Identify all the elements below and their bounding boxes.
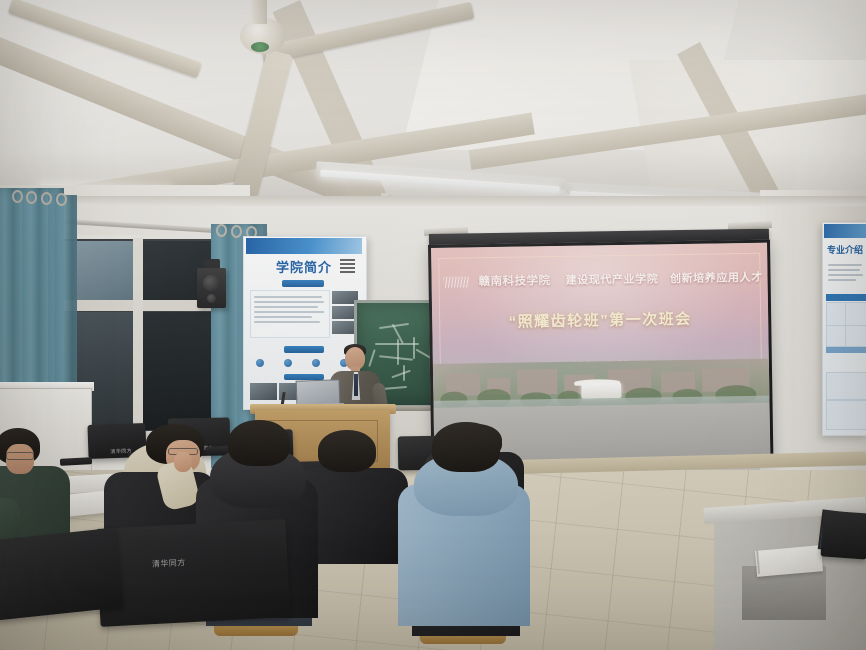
presentation-slide: 赣南科技学院 建设现代产业学院 创新培养应用人才 “照耀齿轮班”第一次班会 20… (431, 243, 769, 408)
computer-monitor-foreground (0, 528, 124, 621)
classroom-photo: 学院简介 专业介绍 (0, 0, 866, 650)
poster-section-intro (248, 280, 360, 342)
poster-header-band (824, 224, 866, 238)
slide-slogan: 建设现代产业学院 创新培养应用人才 (565, 269, 762, 288)
university-logo-icon (443, 276, 469, 287)
student-hair (318, 430, 376, 472)
poster-title-right: 专业介绍 (824, 243, 866, 259)
window-pane (142, 312, 212, 430)
student-hair (432, 422, 500, 472)
student-hair (228, 420, 290, 466)
fan-downrod (251, 0, 267, 24)
computer-monitor (820, 510, 866, 559)
fan-blade (261, 2, 475, 63)
presenter-tie (354, 374, 358, 396)
window-mullion (133, 238, 143, 434)
computer-monitor-foreground (96, 519, 291, 627)
poster-right-table (826, 294, 866, 364)
poster-header-band (246, 238, 362, 254)
fan-badge (251, 42, 269, 52)
qr-code-icon (340, 258, 355, 273)
campus-photo-band (433, 358, 770, 407)
campus-pavilion (581, 383, 621, 399)
student-hand (174, 452, 192, 472)
ceiling-fan (185, 0, 445, 105)
university-name: 赣南科技学院 (478, 272, 550, 289)
poster-right-text (826, 262, 866, 286)
wall-trim (0, 196, 866, 206)
glasses-icon (6, 452, 34, 460)
curtain-rings (214, 224, 268, 236)
curtain-rings (10, 190, 70, 202)
wall-speaker (197, 268, 226, 308)
poster-right-lower (826, 372, 866, 430)
monitor-brand-label: 清华同方 (152, 557, 186, 570)
